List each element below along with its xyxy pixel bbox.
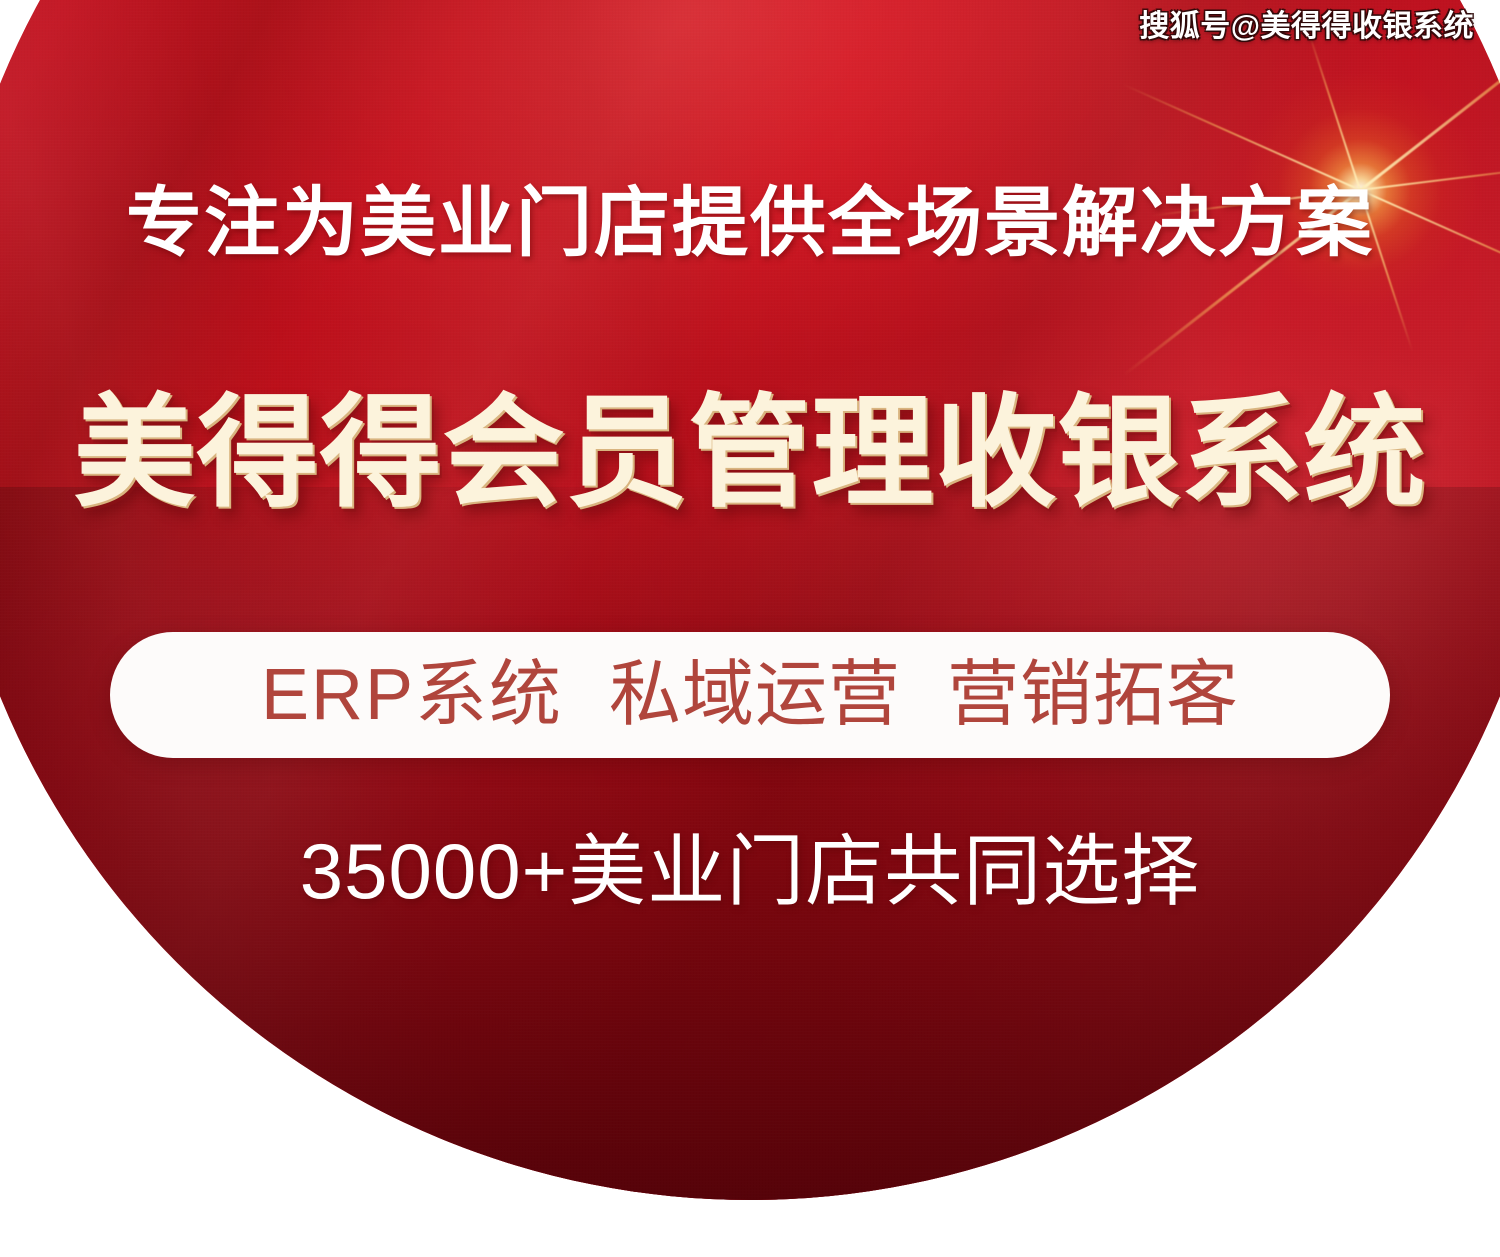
tagline-text: 35000+美业门店共同选择 bbox=[0, 832, 1500, 910]
red-silk-stage bbox=[0, 0, 1500, 1200]
silk-weave-texture bbox=[0, 0, 1500, 1200]
watermark-label: 搜狐号@美得得收银系统 bbox=[1139, 12, 1474, 42]
headline-text: 专注为美业门店提供全场景解决方案 bbox=[0, 186, 1500, 262]
feature-item-marketing: 营销拓客 bbox=[947, 659, 1239, 731]
page-title: 美得得会员管理收银系统 bbox=[0, 392, 1500, 514]
promo-banner: 搜狐号@美得得收银系统 专注为美业门店提供全场景解决方案 美得得会员管理收银系统… bbox=[0, 0, 1500, 1257]
feature-item-erp: ERP系统 bbox=[261, 659, 563, 731]
feature-item-private-domain: 私域运营 bbox=[609, 659, 901, 731]
feature-pill: ERP系统 私域运营 营销拓客 bbox=[110, 632, 1390, 758]
